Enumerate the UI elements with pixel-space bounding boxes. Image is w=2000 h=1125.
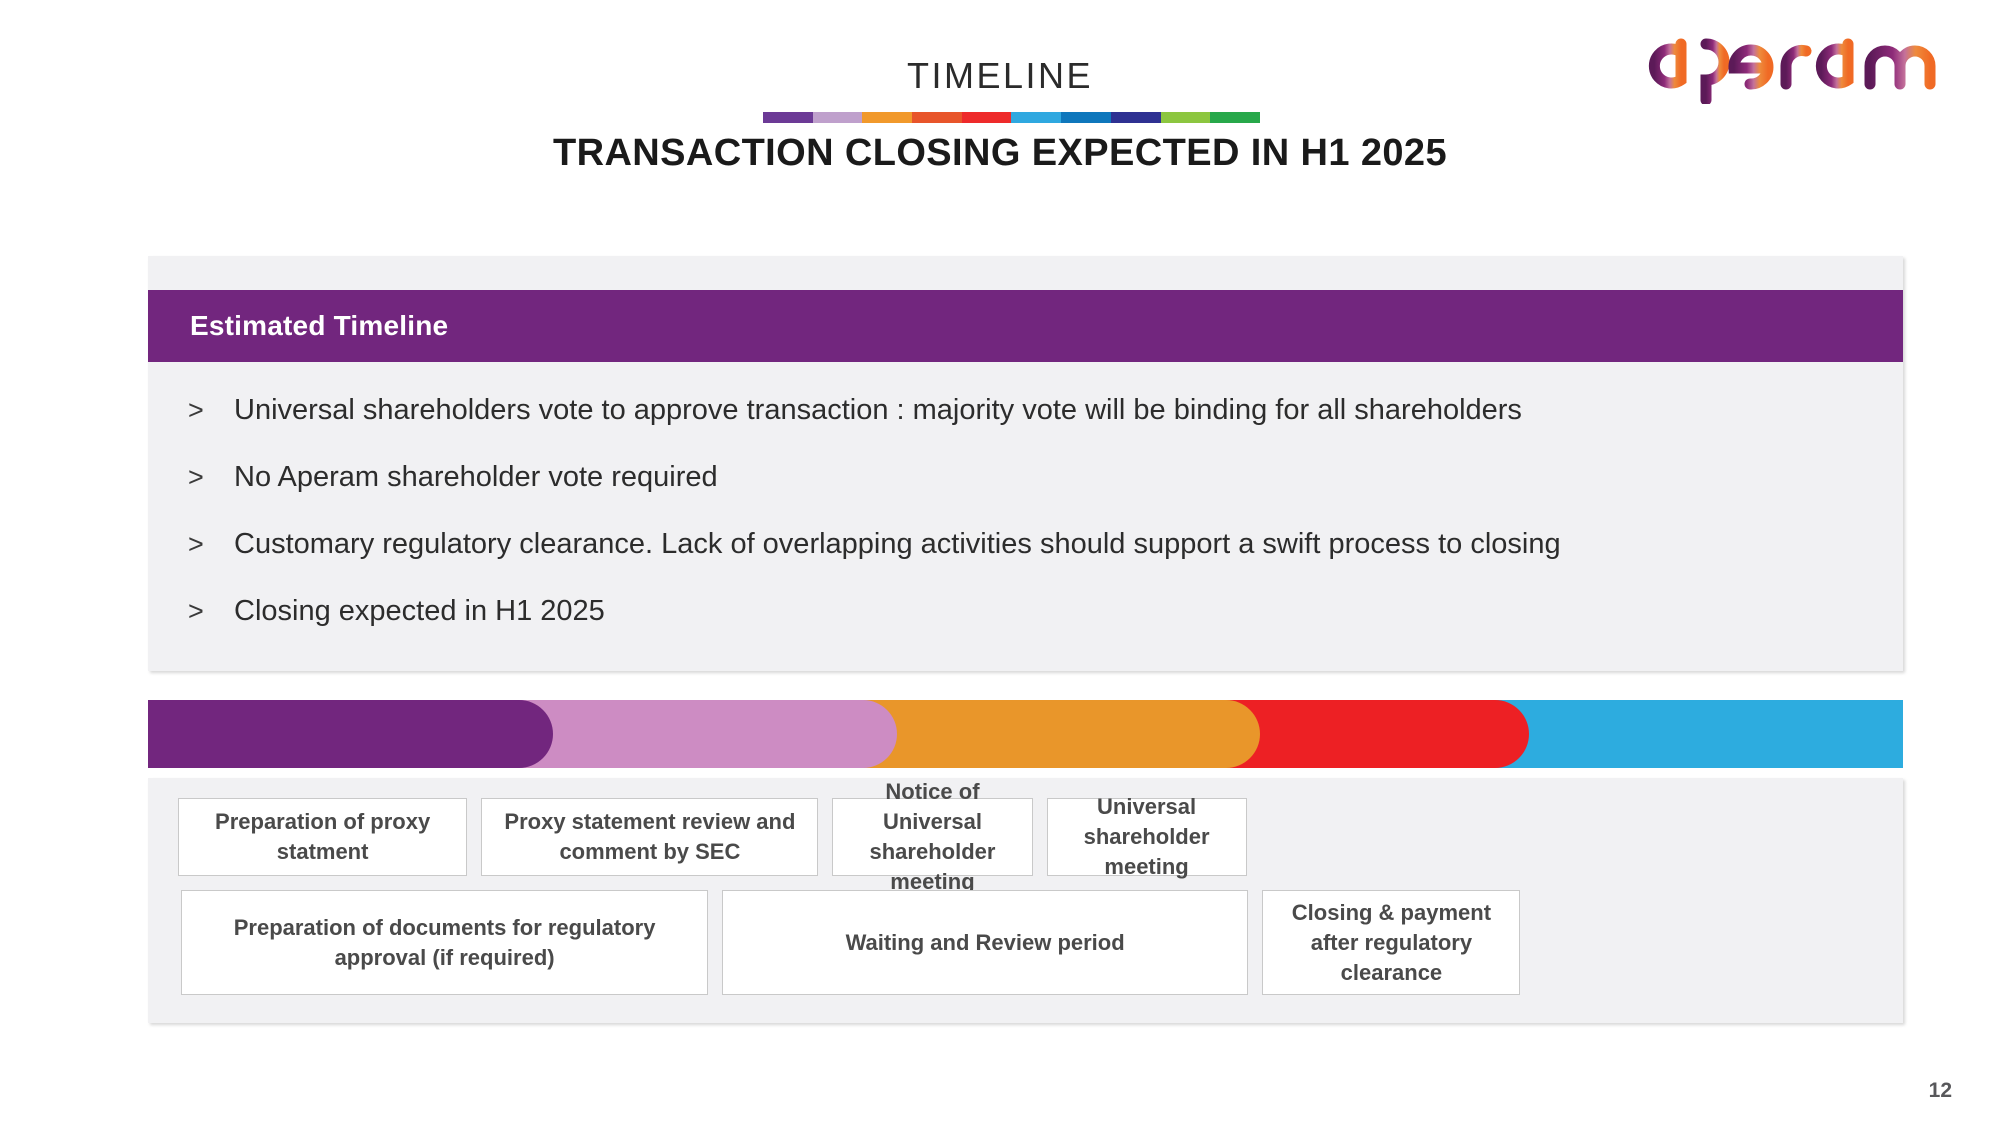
accent-segment-2 bbox=[813, 112, 863, 123]
bullet-item: >No Aperam shareholder vote required bbox=[188, 451, 1863, 503]
bullet-marker-icon: > bbox=[188, 451, 234, 503]
page-number: 12 bbox=[1929, 1079, 1952, 1103]
task-box[interactable]: Universal shareholder meeting bbox=[1047, 798, 1247, 876]
month-arrow-icon bbox=[829, 700, 897, 768]
task-box[interactable]: Proxy statement review and comment by SE… bbox=[481, 798, 818, 876]
task-box[interactable]: Preparation of proxy statment bbox=[178, 798, 468, 876]
month-timeline-bar: OctoberNovemberDecemberJanuaryH1 2025 bbox=[148, 700, 1903, 768]
bullet-text: No Aperam shareholder vote required bbox=[234, 451, 718, 503]
panel-top-strip bbox=[148, 256, 1903, 290]
panel-heading: Estimated Timeline bbox=[190, 310, 448, 342]
bullet-marker-icon: > bbox=[188, 518, 234, 570]
bullet-marker-icon: > bbox=[188, 384, 234, 436]
slide: TIMELINE TRANSACTION CLOSING EXPECTED IN… bbox=[0, 0, 2000, 1125]
bullet-item: >Universal shareholders vote to approve … bbox=[188, 384, 1863, 436]
bullet-text: Closing expected in H1 2025 bbox=[234, 585, 605, 637]
accent-segment-1 bbox=[763, 112, 813, 123]
aperam-logo bbox=[1640, 22, 1940, 104]
estimated-timeline-panel: Estimated Timeline >Universal shareholde… bbox=[148, 256, 1903, 671]
accent-segment-7 bbox=[1061, 112, 1111, 123]
task-box[interactable]: Waiting and Review period bbox=[722, 890, 1249, 995]
bullet-item: >Closing expected in H1 2025 bbox=[188, 585, 1863, 637]
page-title: TRANSACTION CLOSING EXPECTED IN H1 2025 bbox=[0, 132, 2000, 175]
bullet-item: >Customary regulatory clearance. Lack of… bbox=[188, 518, 1863, 570]
task-box[interactable]: Preparation of documents for regulatory … bbox=[181, 890, 708, 995]
accent-color-bar bbox=[763, 112, 1260, 123]
accent-segment-8 bbox=[1111, 112, 1161, 123]
bullet-marker-icon: > bbox=[188, 585, 234, 637]
accent-segment-4 bbox=[912, 112, 962, 123]
task-grid-panel: Preparation of proxy statmentProxy state… bbox=[148, 778, 1903, 1023]
accent-segment-6 bbox=[1011, 112, 1061, 123]
bullet-text: Universal shareholders vote to approve t… bbox=[234, 384, 1522, 436]
task-box[interactable]: Notice of Universal shareholder meeting bbox=[832, 798, 1032, 876]
month-arrow-icon bbox=[485, 700, 553, 768]
accent-segment-3 bbox=[862, 112, 912, 123]
month-segment-october[interactable] bbox=[148, 700, 485, 768]
accent-segment-10 bbox=[1210, 112, 1260, 123]
bullet-list: >Universal shareholders vote to approve … bbox=[148, 362, 1903, 671]
accent-segment-9 bbox=[1161, 112, 1211, 123]
month-arrow-icon bbox=[1461, 700, 1529, 768]
accent-segment-5 bbox=[962, 112, 1012, 123]
panel-header: Estimated Timeline bbox=[148, 290, 1903, 362]
bullet-text: Customary regulatory clearance. Lack of … bbox=[234, 518, 1561, 570]
task-box[interactable]: Closing & payment after regulatory clear… bbox=[1262, 890, 1520, 995]
month-arrow-icon bbox=[1192, 700, 1260, 768]
